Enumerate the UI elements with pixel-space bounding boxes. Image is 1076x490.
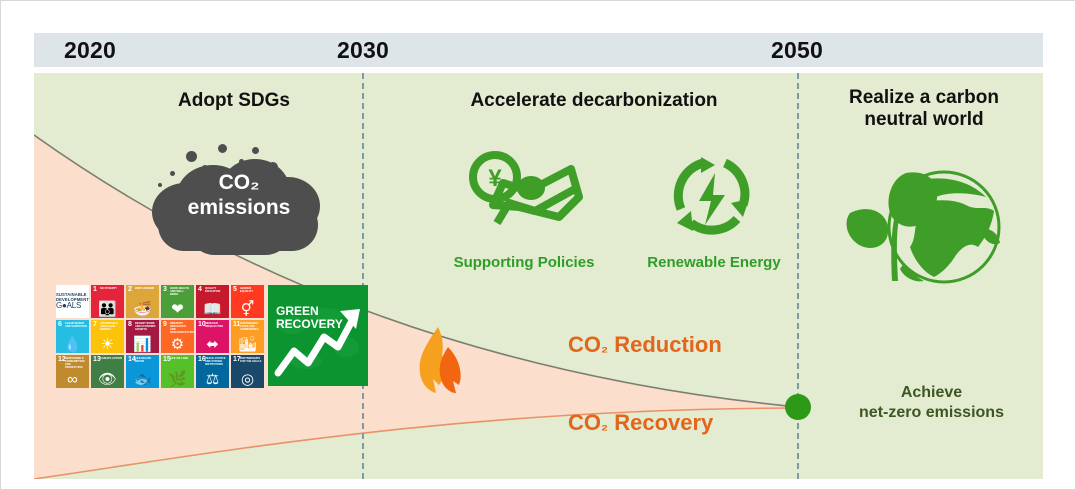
- sdg-number: 4: [198, 286, 202, 293]
- divider-2030: [362, 73, 364, 479]
- sdg-tile-4: 4 Quality education 📖: [196, 285, 229, 318]
- sdg-caption: Affordable and clean energy: [100, 322, 122, 331]
- sdg-glyph-icon: ☀: [91, 337, 124, 352]
- sdg-tile-13: 13 Climate action 👁: [91, 355, 124, 388]
- net-zero-label: Achieve net-zero emissions: [824, 383, 1039, 423]
- sdg-glyph-icon: 📊: [126, 337, 159, 352]
- co2-reduction-post: Reduction: [608, 332, 722, 357]
- year-label-2030: 2030: [337, 33, 389, 67]
- sdg-glyph-icon: ❤: [161, 302, 194, 317]
- sdg-grid: SUSTAINABLE DEVELOPMENT G●ALS 1 No pover…: [56, 285, 264, 388]
- sdg-glyph-icon: ∞: [56, 372, 89, 387]
- co2-recovery-pre: CO: [568, 410, 601, 435]
- sdg-number: 3: [163, 286, 167, 293]
- svg-text:¥: ¥: [488, 165, 502, 192]
- green-recovery-label: GREEN RECOVERY: [276, 305, 343, 331]
- sdg-caption: Responsible consumption and production: [65, 357, 87, 369]
- panel-heading-accelerate-decarbonization: Accelerate decarbonization: [394, 90, 794, 112]
- co2-recovery-label: CO₂ Recovery: [568, 410, 713, 436]
- sdg-tile-8: 8 Decent work and economic growth 📊: [126, 320, 159, 353]
- renewable-energy-label: Renewable Energy: [614, 254, 814, 271]
- sdg-glyph-icon: ⬌: [196, 337, 229, 352]
- year-label-2020: 2020: [64, 33, 116, 67]
- green-recovery-panel: GREEN RECOVERY: [268, 285, 368, 386]
- panel-heading-carbon-neutral-world: Realize a carbon neutral world: [809, 87, 1039, 131]
- sdg-number: 7: [93, 321, 97, 328]
- panel-heading-adopt-sdgs: Adopt SDGs: [109, 90, 359, 112]
- sdg-number: 2: [128, 286, 132, 293]
- sdg-caption: Climate action: [100, 357, 122, 360]
- sdg-caption: Good health and well-being: [170, 287, 192, 296]
- co2-reduction-pre: CO: [568, 332, 601, 357]
- green-earth-icon: [844, 155, 1014, 295]
- sdg-caption: Gender equality: [240, 287, 262, 293]
- co2-emissions-cloud: CO₂ emissions: [144, 135, 334, 260]
- sdg-tile-16: 16 Peace justice and strong institutions…: [196, 355, 229, 388]
- recycle-energy-icon: [659, 143, 769, 243]
- infographic-canvas: 2020 2030 2050 Adopt SDGs Accelerate dec…: [0, 0, 1076, 490]
- sdg-glyph-icon: ⚙: [161, 337, 194, 352]
- sdg-caption: Life below water: [135, 357, 157, 363]
- sdg-tile-14: 14 Life below water 🐟: [126, 355, 159, 388]
- sdg-caption: Quality education: [205, 287, 227, 293]
- sdg-glyph-icon: 📖: [196, 302, 229, 317]
- sdg-number: 8: [128, 321, 132, 328]
- sdg-tile-7: 7 Affordable and clean energy ☀: [91, 320, 124, 353]
- sdg-number: 5: [233, 286, 237, 293]
- sdg-icon-block: SUSTAINABLE DEVELOPMENT G●ALS 1 No pover…: [56, 285, 371, 390]
- timeline-year-bar: 2020 2030 2050: [34, 33, 1043, 67]
- sdg-logo-tile: SUSTAINABLE DEVELOPMENT G●ALS: [56, 285, 89, 318]
- sdg-number: 9: [163, 321, 167, 328]
- sdg-glyph-icon: 🌿: [161, 372, 194, 387]
- sdg-glyph-icon: 🏙: [231, 337, 264, 352]
- sdg-glyph-icon: ◎: [231, 372, 264, 387]
- sdg-caption: Partnerships for the goals: [240, 357, 262, 363]
- sdg-glyph-icon: ⚥: [231, 302, 264, 317]
- sdg-glyph-icon: 💧: [56, 337, 89, 352]
- sdg-number: 1: [93, 286, 97, 293]
- sdg-tile-6: 6 Clean water and sanitation 💧: [56, 320, 89, 353]
- supporting-policies-block: ¥ Supporting Policies: [424, 143, 624, 271]
- sdg-caption: Decent work and economic growth: [135, 322, 157, 331]
- sdg-glyph-icon: ⚖: [196, 372, 229, 387]
- supporting-policies-label: Supporting Policies: [424, 254, 624, 271]
- renewable-energy-block: Renewable Energy: [614, 143, 814, 271]
- money-yen-icon: ¥: [459, 143, 589, 243]
- sdg-caption: Peace justice and strong institutions: [205, 357, 227, 366]
- sdg-tile-5: 5 Gender equality ⚥: [231, 285, 264, 318]
- net-zero-marker-dot: [785, 394, 811, 420]
- sdg-caption: No poverty: [100, 287, 122, 290]
- sdg-tile-11: 11 Sustainable cities and communities 🏙: [231, 320, 264, 353]
- cloud-label: CO₂ emissions: [144, 170, 334, 220]
- sdg-tile-15: 15 Life on land 🌿: [161, 355, 194, 388]
- sdg-glyph-icon: 🍜: [126, 302, 159, 317]
- sdg-tile-3: 3 Good health and well-being ❤: [161, 285, 194, 318]
- sdg-glyph-icon: 👪: [91, 302, 124, 317]
- sdg-tile-10: 10 Reduced inequalities ⬌: [196, 320, 229, 353]
- flame-icon: [414, 325, 466, 397]
- sdg-tile-2: 2 Zero hunger 🍜: [126, 285, 159, 318]
- sdg-caption: Zero hunger: [135, 287, 157, 290]
- green-recovery-arrow-icon: [268, 285, 368, 386]
- year-label-2050: 2050: [771, 33, 823, 67]
- timeline-stage: Adopt SDGs Accelerate decarbonization Re…: [34, 73, 1043, 479]
- sdg-caption: Reduced inequalities: [205, 322, 227, 328]
- co2-recovery-post: Recovery: [608, 410, 713, 435]
- sdg-glyph-icon: 🐟: [126, 372, 159, 387]
- sdg-tile-17: 17 Partnerships for the goals ◎: [231, 355, 264, 388]
- sdg-tile-1: 1 No poverty 👪: [91, 285, 124, 318]
- sdg-tile-12: 12 Responsible consumption and productio…: [56, 355, 89, 388]
- sdg-tile-9: 9 Industry innovation and infrastructure…: [161, 320, 194, 353]
- sdg-caption: Life on land: [170, 357, 192, 360]
- sdg-glyph-icon: 👁: [91, 372, 124, 387]
- sdg-caption: Clean water and sanitation: [65, 322, 87, 328]
- sdg-logo-goals: G●ALS: [56, 302, 89, 310]
- sdg-caption: Industry innovation and infrastructure: [170, 322, 192, 334]
- sdg-number: 6: [58, 321, 62, 328]
- sdg-caption: Sustainable cities and communities: [240, 322, 262, 331]
- co2-reduction-label: CO₂ Reduction: [568, 332, 722, 358]
